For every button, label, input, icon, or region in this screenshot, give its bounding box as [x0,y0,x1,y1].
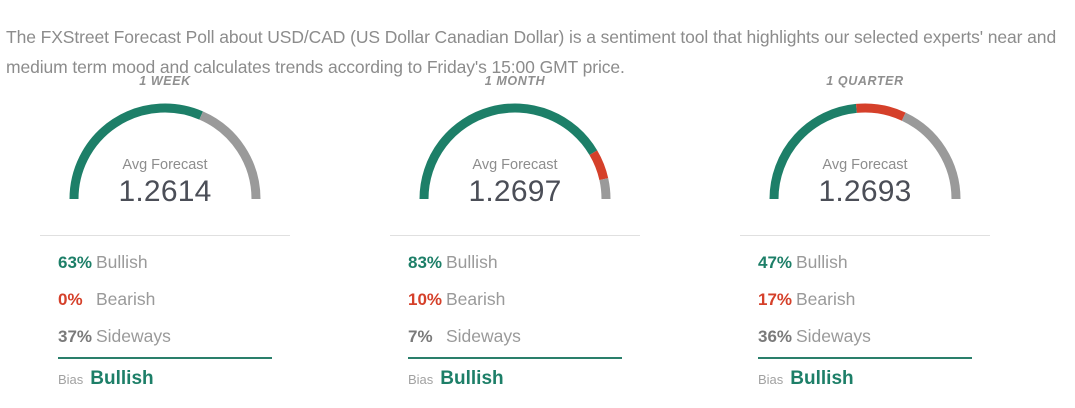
gauge-segment-sideways [904,117,956,199]
gauge-arc-chart [407,94,623,206]
gauge-1-week: Avg Forecast 1.2614 [40,94,290,206]
column-title: 1 WEEK [40,74,290,88]
gauge-segment-bullish [774,108,856,199]
stats-divider [390,235,640,236]
stat-label: Bearish [446,281,505,318]
stat-label: Bullish [446,244,498,281]
bias-divider [758,357,972,359]
bias-row: Bias Bullish [758,368,854,390]
forecast-column-1-quarter: 1 QUARTER Avg Forecast 1.2693 47% Bullis… [740,72,990,408]
stat-percent: 37% [40,318,96,355]
stat-row-sideways: 36% Sideways [740,318,990,355]
bias-value: Bullish [90,368,153,390]
sentiment-stats-list: 83% Bullish 10% Bearish 7% Sideways [390,244,640,355]
bias-value: Bullish [440,368,503,390]
gauge-segment-bullish [424,108,593,199]
gauge-segment-bullish [74,108,201,199]
gauge-segments [424,108,606,199]
stat-label: Sideways [446,318,521,355]
gauge-segment-sideways [201,115,256,199]
bias-row: Bias Bullish [408,368,504,390]
sentiment-stats-list: 63% Bullish 0% Bearish 37% Sideways [40,244,290,355]
bias-value: Bullish [790,368,853,390]
gauge-segment-bearish [593,153,603,179]
gauge-segment-sideways [604,179,606,199]
stat-label: Sideways [796,318,871,355]
stat-row-bearish: 0% Bearish [40,281,290,318]
column-title: 1 QUARTER [740,74,990,88]
stat-row-bullish: 47% Bullish [740,244,990,281]
stat-percent: 7% [390,318,446,355]
bias-divider [58,357,272,359]
sentiment-stats-list: 47% Bullish 17% Bearish 36% Sideways [740,244,990,355]
stat-row-sideways: 7% Sideways [390,318,640,355]
gauge-arc-chart [757,94,973,206]
stat-percent: 17% [740,281,796,318]
bias-row: Bias Bullish [58,368,154,390]
stat-percent: 0% [40,281,96,318]
stat-percent: 10% [390,281,446,318]
stats-divider [40,235,290,236]
stat-label: Bearish [96,281,155,318]
forecast-poll-widget: The FXStreet Forecast Poll about USD/CAD… [0,0,1075,408]
stat-row-bearish: 17% Bearish [740,281,990,318]
stat-label: Bullish [796,244,848,281]
column-title: 1 MONTH [390,74,640,88]
bias-label: Bias [758,372,783,387]
stat-percent: 63% [40,244,96,281]
forecast-column-1-week: 1 WEEK Avg Forecast 1.2614 63% Bullish 0… [40,72,290,408]
stat-label: Bearish [796,281,855,318]
stats-divider [740,235,990,236]
bias-label: Bias [58,372,83,387]
stat-row-bullish: 83% Bullish [390,244,640,281]
stat-row-bullish: 63% Bullish [40,244,290,281]
bias-divider [408,357,622,359]
gauge-arc-chart [57,94,273,206]
forecast-column-1-month: 1 MONTH Avg Forecast 1.2697 83% Bullish … [390,72,640,408]
bias-label: Bias [408,372,433,387]
stat-label: Bullish [96,244,148,281]
gauge-segments [774,108,956,199]
gauge-1-quarter: Avg Forecast 1.2693 [740,94,990,206]
gauge-1-month: Avg Forecast 1.2697 [390,94,640,206]
stat-label: Sideways [96,318,171,355]
stat-percent: 36% [740,318,796,355]
stat-row-bearish: 10% Bearish [390,281,640,318]
stat-percent: 47% [740,244,796,281]
stat-row-sideways: 37% Sideways [40,318,290,355]
stat-percent: 83% [390,244,446,281]
gauge-segment-bearish [856,108,903,117]
gauge-columns: 1 WEEK Avg Forecast 1.2614 63% Bullish 0… [0,72,1075,408]
gauge-segments [74,108,256,199]
